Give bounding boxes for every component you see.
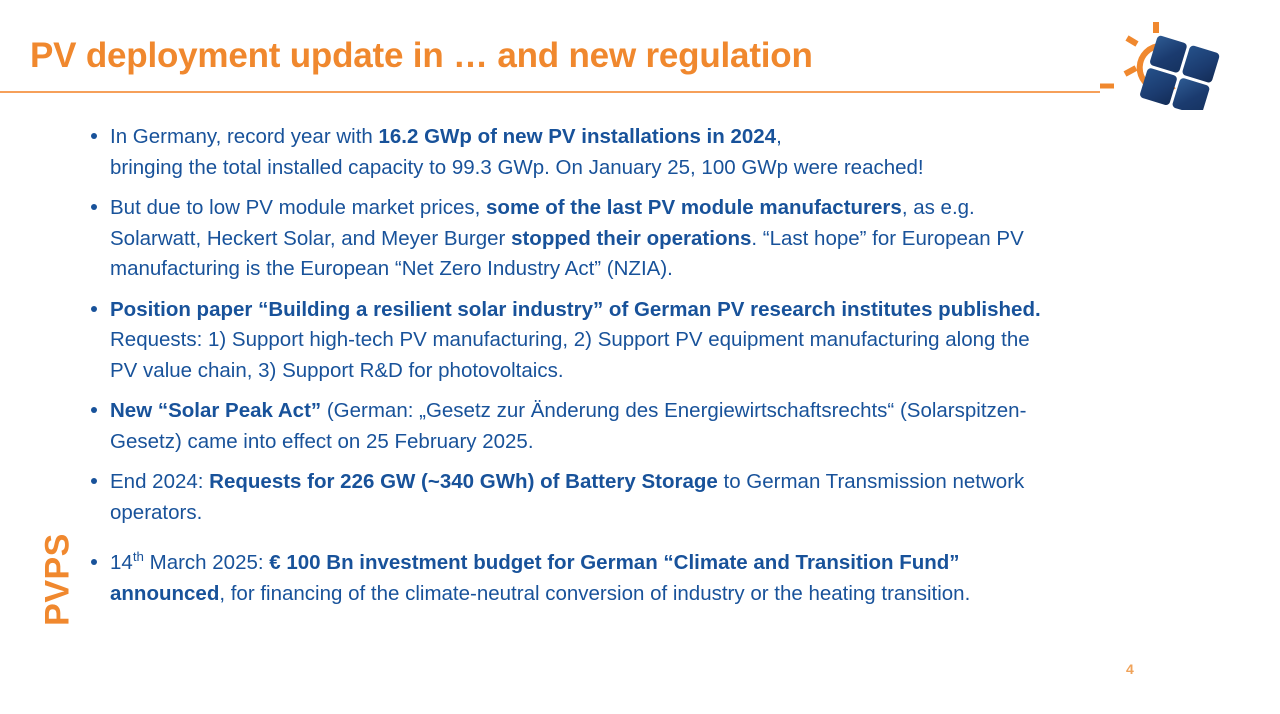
bullet-dot-icon	[91, 407, 97, 413]
bullet-line: operators.	[110, 498, 1248, 529]
emphasis-text: Position paper “Building a resilient sol…	[110, 298, 1041, 321]
bullet-line: In Germany, record year with 16.2 GWp of…	[110, 122, 1248, 153]
emphasis-text: Requests for 226 GW (~340 GWh) of Batter…	[209, 470, 718, 493]
body-text: bringing the total installed capacity to…	[110, 156, 924, 179]
bullet-line: announced, for financing of the climate-…	[110, 579, 1248, 610]
bullet-line: PV value chain, 3) Support R&D for photo…	[110, 356, 1248, 387]
body-text: End 2024:	[110, 470, 209, 493]
iea-pvps-logo	[1100, 14, 1225, 110]
emphasis-text: announced	[110, 582, 219, 605]
page-title: PV deployment update in … and new regula…	[30, 36, 813, 76]
bullet-line: But due to low PV module market prices, …	[110, 193, 1248, 224]
page-number: 4	[1126, 661, 1134, 677]
emphasis-text: 16.2 GWp of new PV installations in 2024	[379, 125, 777, 148]
bullet-dot-icon	[91, 306, 97, 312]
emphasis-text: some of the last PV module manufacturers	[486, 196, 902, 219]
body-text: (German: „Gesetz zur Änderung des Energi…	[321, 399, 1026, 422]
bullet-dot-icon	[91, 559, 97, 565]
bullet-climate-transition-fund: 14th March 2025: € 100 Bn investment bud…	[88, 548, 1248, 609]
bullet-line: Solarwatt, Heckert Solar, and Meyer Burg…	[110, 224, 1248, 255]
emphasis-text: € 100 Bn investment budget for German “C…	[269, 551, 959, 574]
bullet-line: Position paper “Building a resilient sol…	[110, 295, 1248, 326]
bullet-list: In Germany, record year with 16.2 GWp of…	[88, 122, 1248, 619]
body-text: th	[133, 549, 144, 564]
body-text: . “Last hope” for European PV	[751, 227, 1023, 250]
title-divider	[0, 91, 1100, 93]
emphasis-text: New “Solar Peak Act”	[110, 399, 321, 422]
bullet-line: 14th March 2025: € 100 Bn investment bud…	[110, 548, 1248, 579]
bullet-line: Gesetz) came into effect on 25 February …	[110, 427, 1248, 458]
bullet-germany-record-year: In Germany, record year with 16.2 GWp of…	[88, 122, 1248, 183]
emphasis-text: stopped their operations	[511, 227, 751, 250]
body-text: manufacturing is the European “Net Zero …	[110, 257, 673, 280]
bullet-dot-icon	[91, 133, 97, 139]
bullet-line: Requests: 1) Support high-tech PV manufa…	[110, 325, 1248, 356]
body-text: 14	[110, 551, 133, 574]
body-text: Requests: 1) Support high-tech PV manufa…	[110, 328, 1030, 351]
body-text: , for financing of the climate-neutral c…	[219, 582, 970, 605]
body-text: Gesetz) came into effect on 25 February …	[110, 430, 534, 453]
bullet-dot-icon	[91, 478, 97, 484]
bullet-module-manufacturers-stopped: But due to low PV module market prices, …	[88, 193, 1248, 285]
bullet-line: bringing the total installed capacity to…	[110, 153, 1248, 184]
bullet-dot-icon	[91, 204, 97, 210]
bullet-line: manufacturing is the European “Net Zero …	[110, 254, 1248, 285]
bullet-solar-peak-act: New “Solar Peak Act” (German: „Gesetz zu…	[88, 396, 1248, 457]
body-text: to German Transmission network	[718, 470, 1024, 493]
body-text: Solarwatt, Heckert Solar, and Meyer Burg…	[110, 227, 511, 250]
bullet-battery-storage-requests: End 2024: Requests for 226 GW (~340 GWh)…	[88, 467, 1248, 528]
body-text: ,	[776, 125, 782, 148]
body-text: March 2025:	[144, 551, 269, 574]
body-text: operators.	[110, 501, 202, 524]
body-text: In Germany, record year with	[110, 125, 379, 148]
pvps-side-label: PVPS	[39, 520, 78, 640]
body-text: PV value chain, 3) Support R&D for photo…	[110, 359, 564, 382]
body-text: , as e.g.	[902, 196, 975, 219]
bullet-line: End 2024: Requests for 226 GW (~340 GWh)…	[110, 467, 1248, 498]
bullet-line: New “Solar Peak Act” (German: „Gesetz zu…	[110, 396, 1248, 427]
body-text: But due to low PV module market prices,	[110, 196, 486, 219]
bullet-position-paper-resilient-solar-industry: Position paper “Building a resilient sol…	[88, 295, 1248, 387]
